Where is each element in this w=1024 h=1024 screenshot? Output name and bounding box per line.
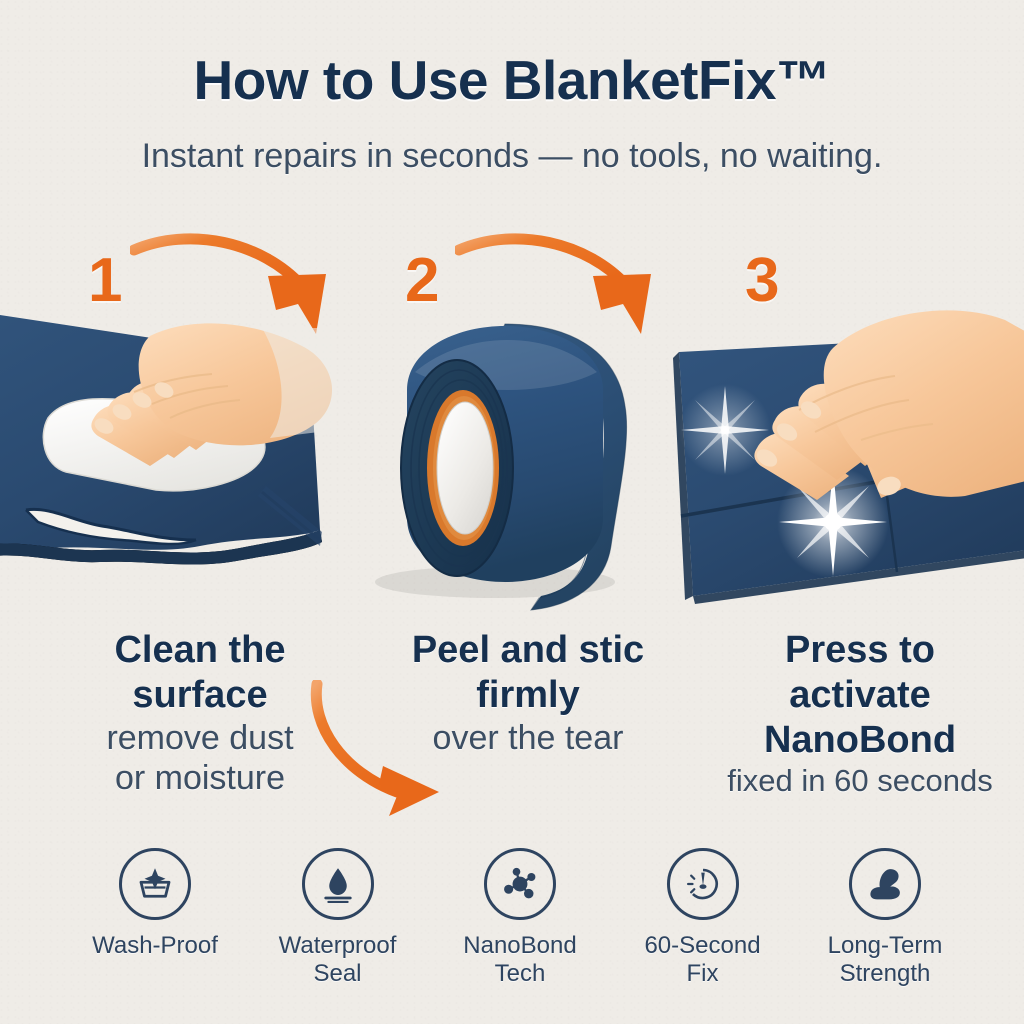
step-1-sub-line2: or moisture <box>50 758 350 799</box>
step-2-sub-line1: over the tear <box>378 718 678 759</box>
stopwatch-icon <box>667 848 739 920</box>
feature-label-line1: 60-Second <box>644 932 760 960</box>
molecule-icon <box>484 848 556 920</box>
step-3-caption: Press to activate NanoBond fixed in 60 s… <box>700 628 1020 800</box>
step-3-sub-line1: fixed in 60 seconds <box>700 762 1020 799</box>
feature-label-line1: NanoBond <box>463 932 576 960</box>
step-2-heading-line2: firmly <box>378 673 678 718</box>
step-3-heading-line3: NanoBond <box>700 718 1020 763</box>
step-1-sub-line1: remove dust <box>50 718 350 759</box>
feature-wash-proof: Wash-Proof <box>80 848 230 960</box>
step-2-heading-line1: Peel and stic <box>378 628 678 673</box>
step-1-caption: Clean the surface remove dust or moistur… <box>50 628 350 799</box>
wash-tub-icon <box>119 848 191 920</box>
step-number-2: 2 <box>405 250 439 312</box>
feature-label-line2: Strength <box>828 960 943 988</box>
feature-60-second-fix: 60-Second Fix <box>628 848 778 989</box>
page-subtitle: Instant repairs in seconds — no tools, n… <box>0 137 1024 176</box>
feature-waterproof-seal-label: Waterproof Seal <box>279 932 397 989</box>
step-2-illustration <box>345 310 665 630</box>
page-title: How to Use BlanketFix™ <box>0 48 1024 112</box>
tape-roll-face <box>401 360 513 576</box>
step-1-illustration <box>0 300 335 640</box>
feature-label-line1: Waterproof <box>279 932 397 960</box>
infographic-poster: How to Use BlanketFix™ Instant repairs i… <box>0 0 1024 1024</box>
step-1-heading-line2: surface <box>50 673 350 718</box>
feature-label-line1: Long-Term <box>828 932 943 960</box>
feature-nanobond-tech: NanoBond Tech <box>445 848 595 989</box>
feature-label-line1: Wash-Proof <box>92 932 218 960</box>
feature-long-term-strength-label: Long-Term Strength <box>828 932 943 989</box>
feature-60-second-fix-label: 60-Second Fix <box>644 932 760 989</box>
feature-label-line2: Fix <box>644 960 760 988</box>
feature-waterproof-seal: Waterproof Seal <box>263 848 413 989</box>
step-3-heading-line1: Press to <box>700 628 1020 673</box>
feature-badges-row: Wash-Proof Waterproof Seal <box>80 848 960 989</box>
step-1-heading-line1: Clean the <box>50 628 350 673</box>
bicep-icon <box>849 848 921 920</box>
step-3-heading-line2: activate <box>700 673 1020 718</box>
feature-long-term-strength: Long-Term Strength <box>810 848 960 989</box>
water-drop-icon <box>302 848 374 920</box>
step-3-illustration <box>665 300 1024 640</box>
feature-label-line2: Seal <box>279 960 397 988</box>
feature-label-line2: Tech <box>463 960 576 988</box>
feature-wash-proof-label: Wash-Proof <box>92 932 218 960</box>
feature-nanobond-tech-label: NanoBond Tech <box>463 932 576 989</box>
step-2-caption: Peel and stic firmly over the tear <box>378 628 678 758</box>
